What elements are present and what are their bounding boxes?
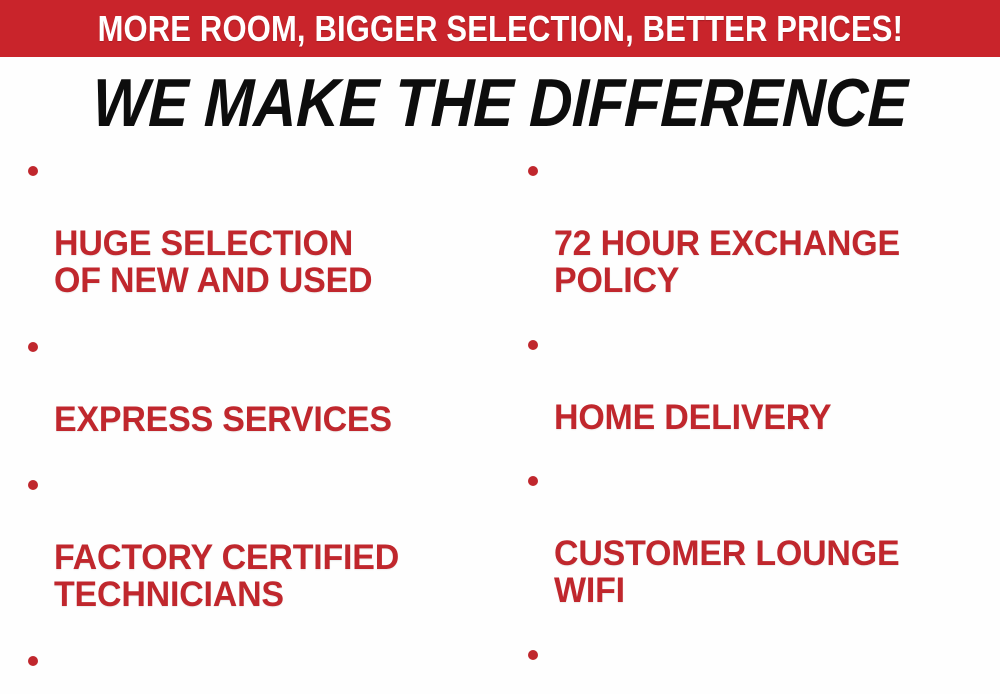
list-item-label: EXPRESS SERVICES [54, 401, 392, 438]
main-headline-container: WE MAKE THE DIFFERENCE [0, 64, 1000, 142]
benefits-list-left: HUGE SELECTION OF NEW AND USED EXPRESS S… [22, 150, 494, 694]
list-item-label: HOME DELIVERY [554, 399, 831, 436]
list-item-label: FACTORY CERTIFIED TECHNICIANS [54, 539, 399, 614]
list-item-label: HUGE SELECTION OF NEW AND USED [54, 225, 372, 300]
page-title: WE MAKE THE DIFFERENCE [92, 69, 909, 137]
bullet-dot-icon [528, 166, 538, 176]
list-item: EXPRESS SERVICES [22, 326, 494, 438]
bullet-dot-icon [528, 340, 538, 350]
benefits-column-right: 72 HOUR EXCHANGE POLICY HOME DELIVERY CU… [500, 150, 1000, 694]
list-item: HOME DELIVERY [522, 324, 1000, 436]
bullet-dot-icon [28, 342, 38, 352]
banner-headline-text: MORE ROOM, BIGGER SELECTION, BETTER PRIC… [97, 11, 903, 47]
list-item: HUGE SELECTION OF NEW AND USED [22, 150, 494, 300]
list-item: FACTORY CERTIFIED TECHNICIANS [22, 464, 494, 614]
benefits-column-left: HUGE SELECTION OF NEW AND USED EXPRESS S… [0, 150, 500, 694]
list-item: CUSTOMER LOUNGE WIFI [522, 460, 1000, 610]
bullet-dot-icon [28, 166, 38, 176]
bullet-dot-icon [28, 656, 38, 666]
list-item-label: CUSTOMER LOUNGE WIFI [554, 535, 899, 610]
list-item-label: 72 HOUR EXCHANGE POLICY [554, 225, 900, 300]
top-banner: MORE ROOM, BIGGER SELECTION, BETTER PRIC… [0, 0, 1000, 57]
list-item: COMPLIMENTARY LOANER CARS [22, 640, 494, 694]
list-item: MILITARY DISCOUNTS [522, 634, 1000, 694]
bullet-dot-icon [28, 480, 38, 490]
benefits-list-right: 72 HOUR EXCHANGE POLICY HOME DELIVERY CU… [522, 150, 1000, 694]
bullet-dot-icon [528, 650, 538, 660]
promotional-poster: MORE ROOM, BIGGER SELECTION, BETTER PRIC… [0, 0, 1000, 694]
bullet-dot-icon [528, 476, 538, 486]
benefits-columns: HUGE SELECTION OF NEW AND USED EXPRESS S… [0, 150, 1000, 694]
list-item: 72 HOUR EXCHANGE POLICY [522, 150, 1000, 300]
